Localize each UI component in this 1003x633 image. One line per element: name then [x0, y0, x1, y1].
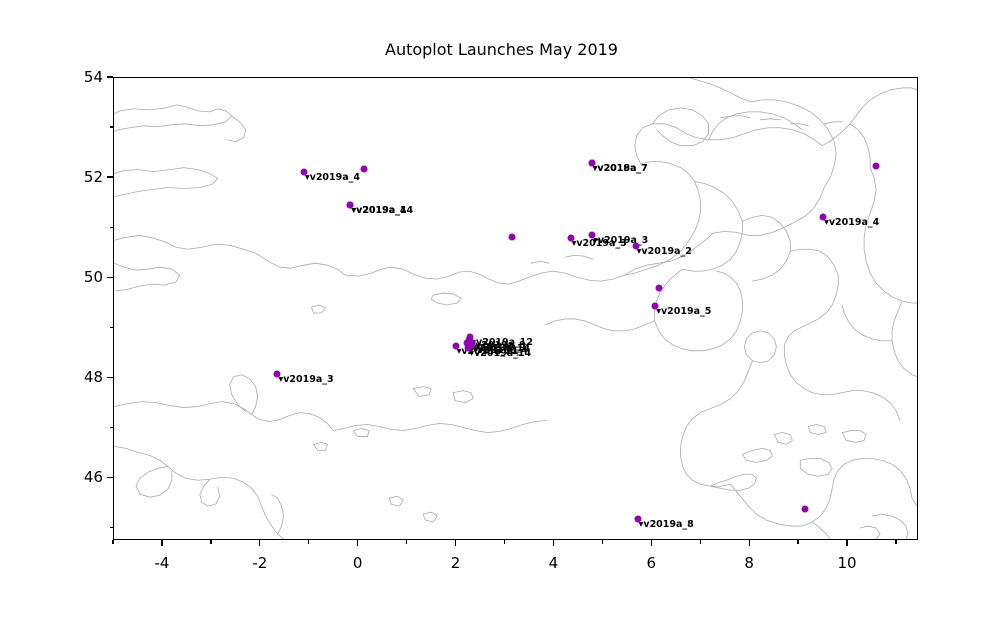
- coastline-map: [114, 78, 917, 539]
- x-tick-mark: [553, 540, 554, 546]
- data-point[interactable]: [509, 234, 516, 241]
- x-tick-mark: [161, 540, 162, 546]
- y-minor-tick-mark: [110, 427, 114, 428]
- x-tick-label: 2: [436, 554, 476, 572]
- y-tick-label: 48: [61, 368, 103, 386]
- x-tick-label: 4: [533, 554, 573, 572]
- x-tick-mark: [846, 540, 847, 546]
- data-point-label: ▾v2019a_14: [351, 206, 413, 216]
- y-tick-label: 54: [61, 68, 103, 86]
- x-minor-tick-mark: [895, 540, 896, 544]
- y-tick-label: 52: [61, 168, 103, 186]
- data-point-label: ▾v2019a_8: [639, 520, 694, 530]
- x-tick-label: 8: [729, 554, 769, 572]
- y-minor-tick-mark: [110, 527, 114, 528]
- x-tick-mark: [357, 540, 358, 546]
- data-point-label: ▾v2019a_3: [593, 236, 648, 246]
- data-point-label: ▾v2019a_5: [656, 307, 711, 317]
- data-point-label: ▾v2018a_7: [593, 164, 648, 174]
- y-tick-label: 46: [61, 468, 103, 486]
- x-tick-label: 10: [827, 554, 867, 572]
- data-point-label: ▾v2019a_4: [305, 173, 360, 183]
- data-point[interactable]: [360, 165, 367, 172]
- x-minor-tick-mark: [308, 540, 309, 544]
- x-minor-tick-mark: [797, 540, 798, 544]
- y-tick-label: 50: [61, 268, 103, 286]
- page-title: Autoplot Launches May 2019: [0, 40, 1003, 59]
- y-tick-mark: [107, 76, 113, 77]
- y-minor-tick-mark: [110, 327, 114, 328]
- x-tick-label: 6: [631, 554, 671, 572]
- data-point-label: ▾v2019a_2: [637, 247, 692, 257]
- x-minor-tick-mark: [700, 540, 701, 544]
- figure-canvas: Autoplot Launches May 2019: [0, 0, 1003, 633]
- data-point[interactable]: [873, 162, 880, 169]
- y-minor-tick-mark: [110, 227, 114, 228]
- y-tick-mark: [107, 377, 113, 378]
- data-point[interactable]: [655, 285, 662, 292]
- data-point-label: ▾v2019a_4: [824, 218, 879, 228]
- x-tick-label: -2: [240, 554, 280, 572]
- data-point-label: ▾v2019a_14: [469, 349, 531, 359]
- x-tick-mark: [455, 540, 456, 546]
- y-tick-mark: [107, 277, 113, 278]
- x-tick-mark: [259, 540, 260, 546]
- x-minor-tick-mark: [210, 540, 211, 544]
- x-minor-tick-mark: [406, 540, 407, 544]
- x-tick-mark: [651, 540, 652, 546]
- data-point[interactable]: [801, 506, 808, 513]
- x-tick-label: 0: [338, 554, 378, 572]
- x-tick-mark: [749, 540, 750, 546]
- x-tick-label: -4: [142, 554, 182, 572]
- plot-axes: ▾v2019a_4▾v2019a_1▾v2019a_4▾v2019a_14▾v2…: [113, 77, 918, 540]
- x-minor-tick-mark: [602, 540, 603, 544]
- y-tick-mark: [107, 176, 113, 177]
- y-tick-mark: [107, 477, 113, 478]
- y-minor-tick-mark: [110, 126, 114, 127]
- x-minor-tick-mark: [112, 540, 113, 544]
- data-point-label: ▾v2019a_3: [278, 375, 333, 385]
- x-minor-tick-mark: [504, 540, 505, 544]
